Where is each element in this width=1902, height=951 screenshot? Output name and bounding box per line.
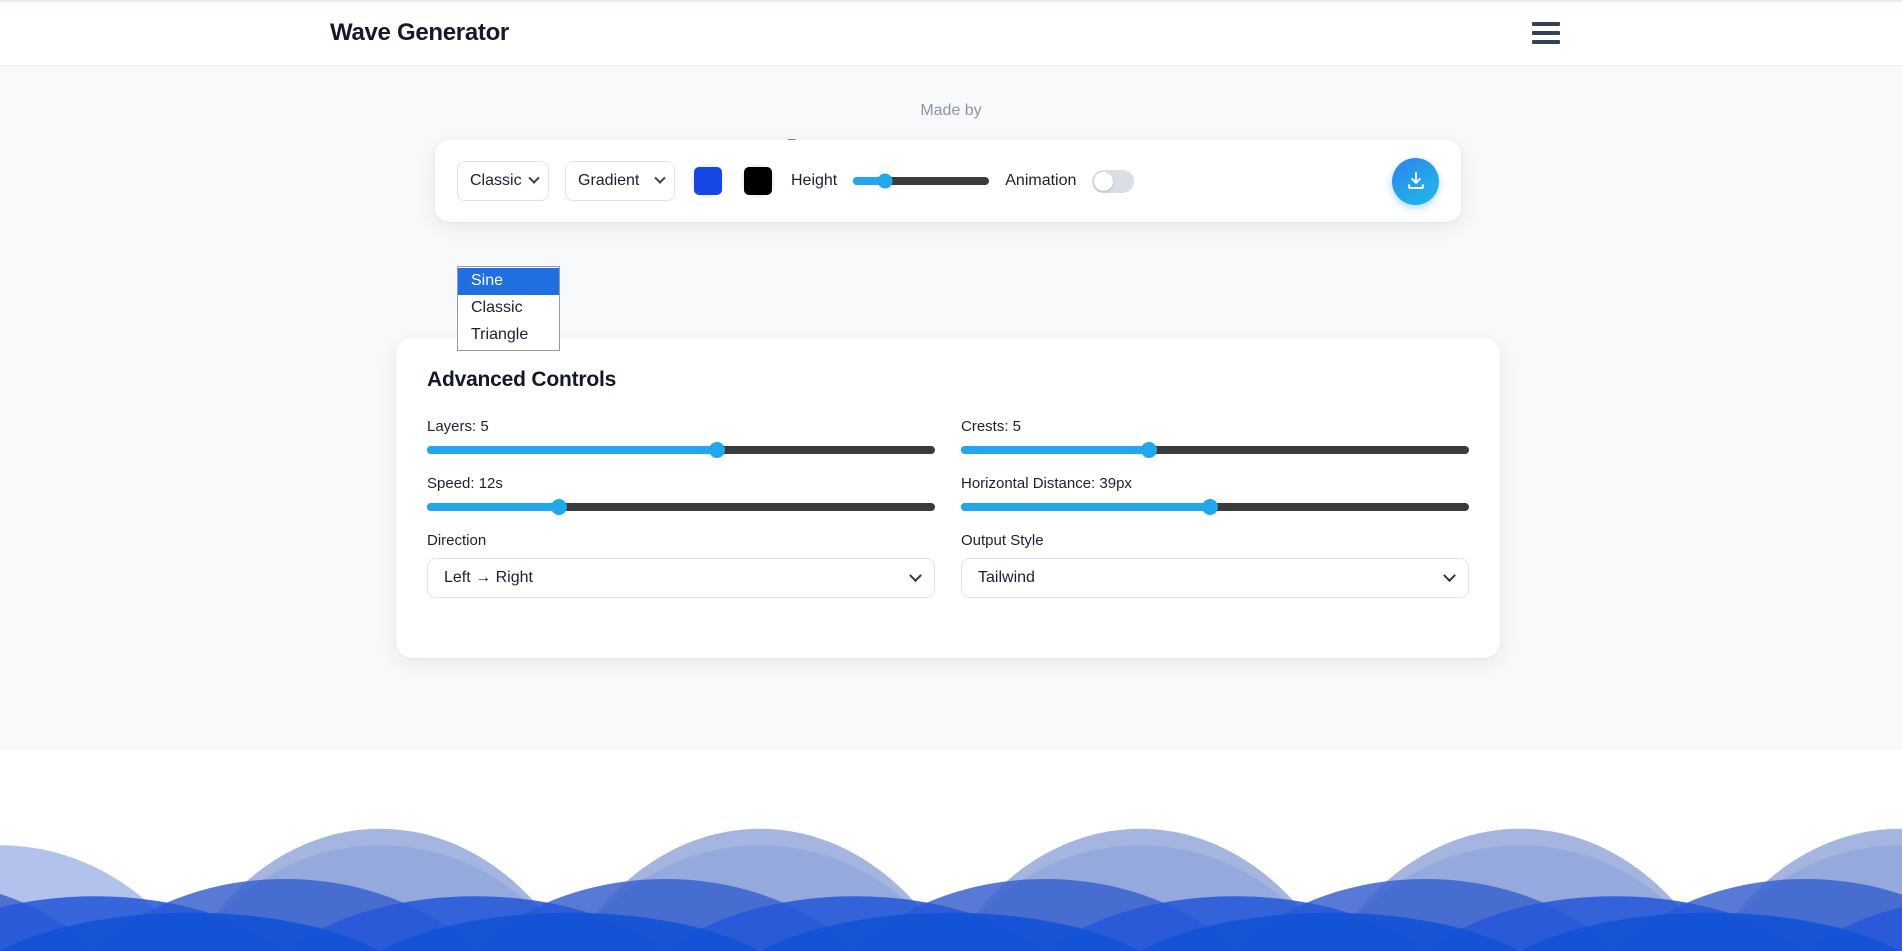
horizontal-distance-slider-knob[interactable] <box>1202 499 1218 515</box>
secondary-color-chip <box>744 167 772 195</box>
direction-field: Direction Left → Right <box>427 532 935 598</box>
app-title: Wave Generator <box>330 19 509 47</box>
speed-slider-fill <box>427 503 559 511</box>
speed-field: Speed: 12s <box>427 475 935 511</box>
download-icon <box>1405 170 1427 192</box>
top-navbar: Wave Generator <box>0 0 1902 66</box>
dropdown-option-sine[interactable]: Sine <box>458 268 559 295</box>
fill-type-value: Gradient <box>578 172 639 190</box>
wave-type-select[interactable]: Classic <box>457 161 549 201</box>
height-label: Height <box>791 172 837 190</box>
speed-slider[interactable] <box>427 503 935 511</box>
chevron-down-icon <box>1443 569 1456 582</box>
output-style-select[interactable]: Tailwind <box>961 558 1469 598</box>
output-style-label: Output Style <box>961 532 1469 549</box>
animation-label: Animation <box>1005 172 1076 190</box>
animation-toggle[interactable] <box>1092 170 1134 193</box>
crests-field: Crests: 5 <box>961 418 1469 454</box>
layers-slider[interactable] <box>427 446 935 454</box>
wave-layers <box>0 829 1902 951</box>
crests-label: Crests: 5 <box>961 418 1469 435</box>
wave-preview <box>0 750 1902 951</box>
layers-slider-knob[interactable] <box>709 442 725 458</box>
advanced-controls-card: Advanced Controls Layers: 5 Crests: 5 Sp… <box>396 338 1500 658</box>
direction-select[interactable]: Left → Right <box>427 558 935 598</box>
secondary-color-swatch[interactable] <box>741 164 775 198</box>
direction-value: Left → Right <box>444 569 533 587</box>
toolbar-card: Classic Gradient Height Animation <box>435 140 1461 222</box>
wave-preview-svg <box>0 750 1902 951</box>
primary-color-chip <box>694 167 722 195</box>
crests-slider-knob[interactable] <box>1141 442 1157 458</box>
layers-field: Layers: 5 <box>427 418 935 454</box>
horizontal-distance-field: Horizontal Distance: 39px <box>961 475 1469 511</box>
crests-slider-fill <box>961 446 1149 454</box>
output-style-field: Output Style Tailwind <box>961 532 1469 598</box>
fill-type-select[interactable]: Gradient <box>565 161 675 201</box>
height-slider-knob[interactable] <box>877 174 892 189</box>
direction-label: Direction <box>427 532 935 549</box>
layers-label: Layers: 5 <box>427 418 935 435</box>
primary-color-swatch[interactable] <box>691 164 725 198</box>
chevron-down-icon <box>654 173 665 184</box>
horizontal-distance-slider-fill <box>961 503 1210 511</box>
made-by-label: Made by <box>0 102 1902 120</box>
advanced-controls-grid: Layers: 5 Crests: 5 Speed: 12s Horizonta… <box>427 418 1469 619</box>
horizontal-distance-label: Horizontal Distance: 39px <box>961 475 1469 492</box>
crests-slider[interactable] <box>961 446 1469 454</box>
hamburger-icon[interactable] <box>1532 20 1562 46</box>
advanced-controls-title: Advanced Controls <box>427 368 616 392</box>
horizontal-distance-slider[interactable] <box>961 503 1469 511</box>
dropdown-option-classic[interactable]: Classic <box>458 295 559 322</box>
download-button[interactable] <box>1392 158 1439 205</box>
speed-slider-knob[interactable] <box>551 499 567 515</box>
chevron-down-icon <box>528 173 539 184</box>
animation-toggle-thumb <box>1094 172 1113 191</box>
speed-label: Speed: 12s <box>427 475 935 492</box>
chevron-down-icon <box>909 569 922 582</box>
output-style-value: Tailwind <box>978 569 1035 587</box>
dropdown-option-triangle[interactable]: Triangle <box>458 322 559 349</box>
height-slider[interactable] <box>853 177 989 185</box>
wave-type-dropdown[interactable]: Sine Classic Triangle <box>457 266 560 351</box>
wave-type-value: Classic <box>470 172 522 190</box>
layers-slider-fill <box>427 446 717 454</box>
